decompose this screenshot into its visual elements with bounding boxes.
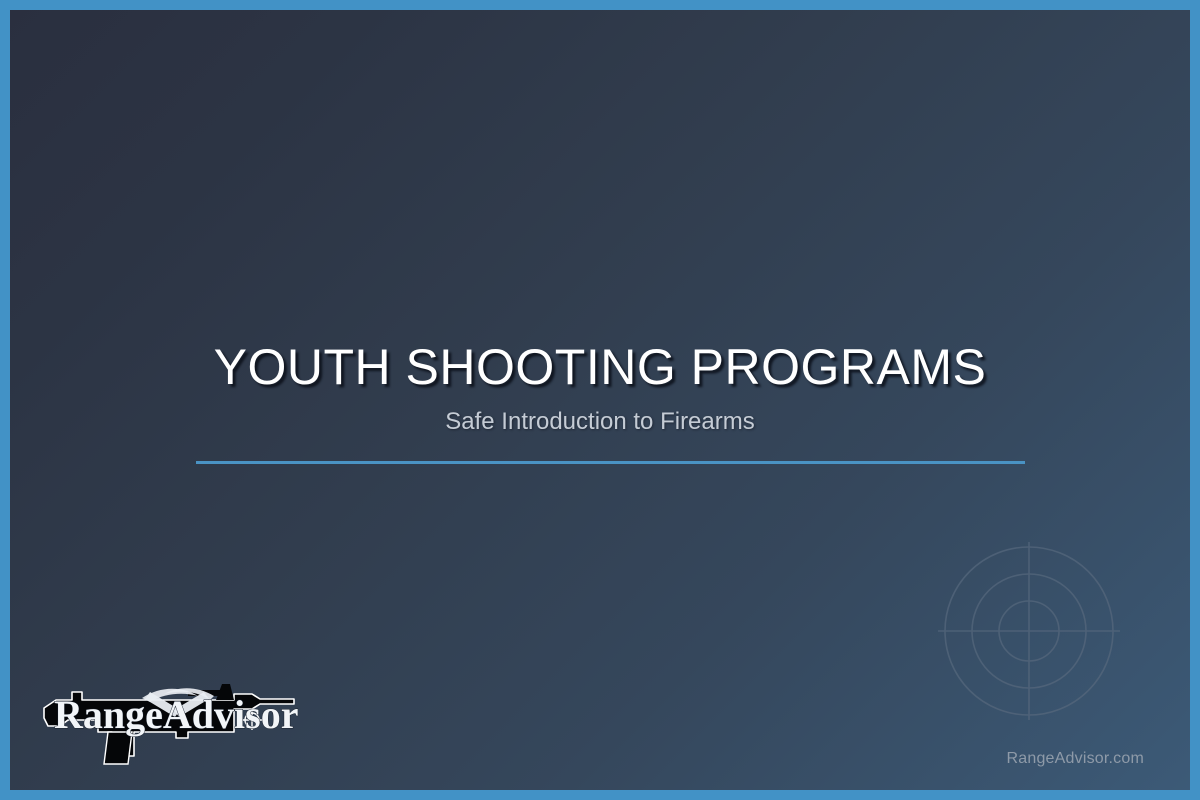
page-subtitle: Safe Introduction to Firearms (10, 408, 1190, 436)
brand-logo-wordmark: RangeAdvisor (54, 692, 298, 737)
title-block: YOUTH SHOOTING PROGRAMS Safe Introductio… (10, 340, 1190, 436)
accent-divider (196, 461, 1025, 464)
brand-logo: RangeAdvisor (38, 670, 304, 768)
title-slide: YOUTH SHOOTING PROGRAMS Safe Introductio… (0, 0, 1200, 800)
footer-url: RangeAdvisor.com (1007, 750, 1145, 768)
page-title: YOUTH SHOOTING PROGRAMS (10, 340, 1190, 394)
